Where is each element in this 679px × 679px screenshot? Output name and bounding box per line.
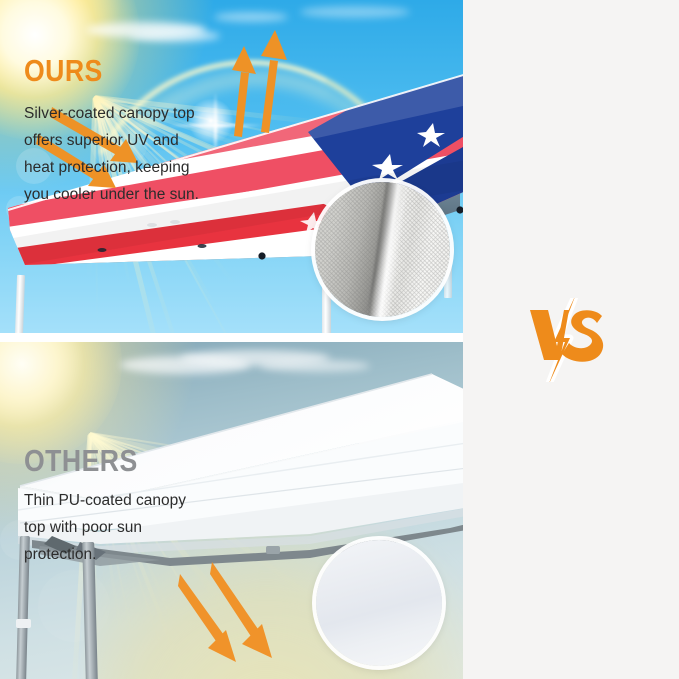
others-text-panel bbox=[463, 342, 679, 679]
cloud bbox=[130, 30, 220, 42]
leg-height-clip bbox=[16, 619, 31, 628]
vs-badge bbox=[524, 298, 610, 382]
comparison-infographic: OURS Silver-coated canopy top offers sup… bbox=[0, 0, 679, 679]
cloud bbox=[300, 6, 410, 18]
penetrating-sun-ray-arrow-2 bbox=[210, 560, 296, 664]
panel-divider bbox=[0, 333, 463, 342]
ours-heading: OURS bbox=[24, 53, 103, 89]
cloud bbox=[214, 12, 288, 22]
pu-coated-fabric-swatch bbox=[316, 540, 442, 666]
reflected-ray-arrow-2 bbox=[245, 28, 289, 136]
silver-coated-fabric-swatch bbox=[315, 182, 450, 317]
fabric-surface-plain bbox=[316, 540, 442, 666]
ours-description: Silver-coated canopy top offers superior… bbox=[24, 100, 204, 208]
others-heading: OTHERS bbox=[24, 443, 138, 479]
ours-text-panel bbox=[463, 0, 679, 333]
others-description: Thin PU-coated canopy top with poor sun … bbox=[24, 487, 204, 568]
